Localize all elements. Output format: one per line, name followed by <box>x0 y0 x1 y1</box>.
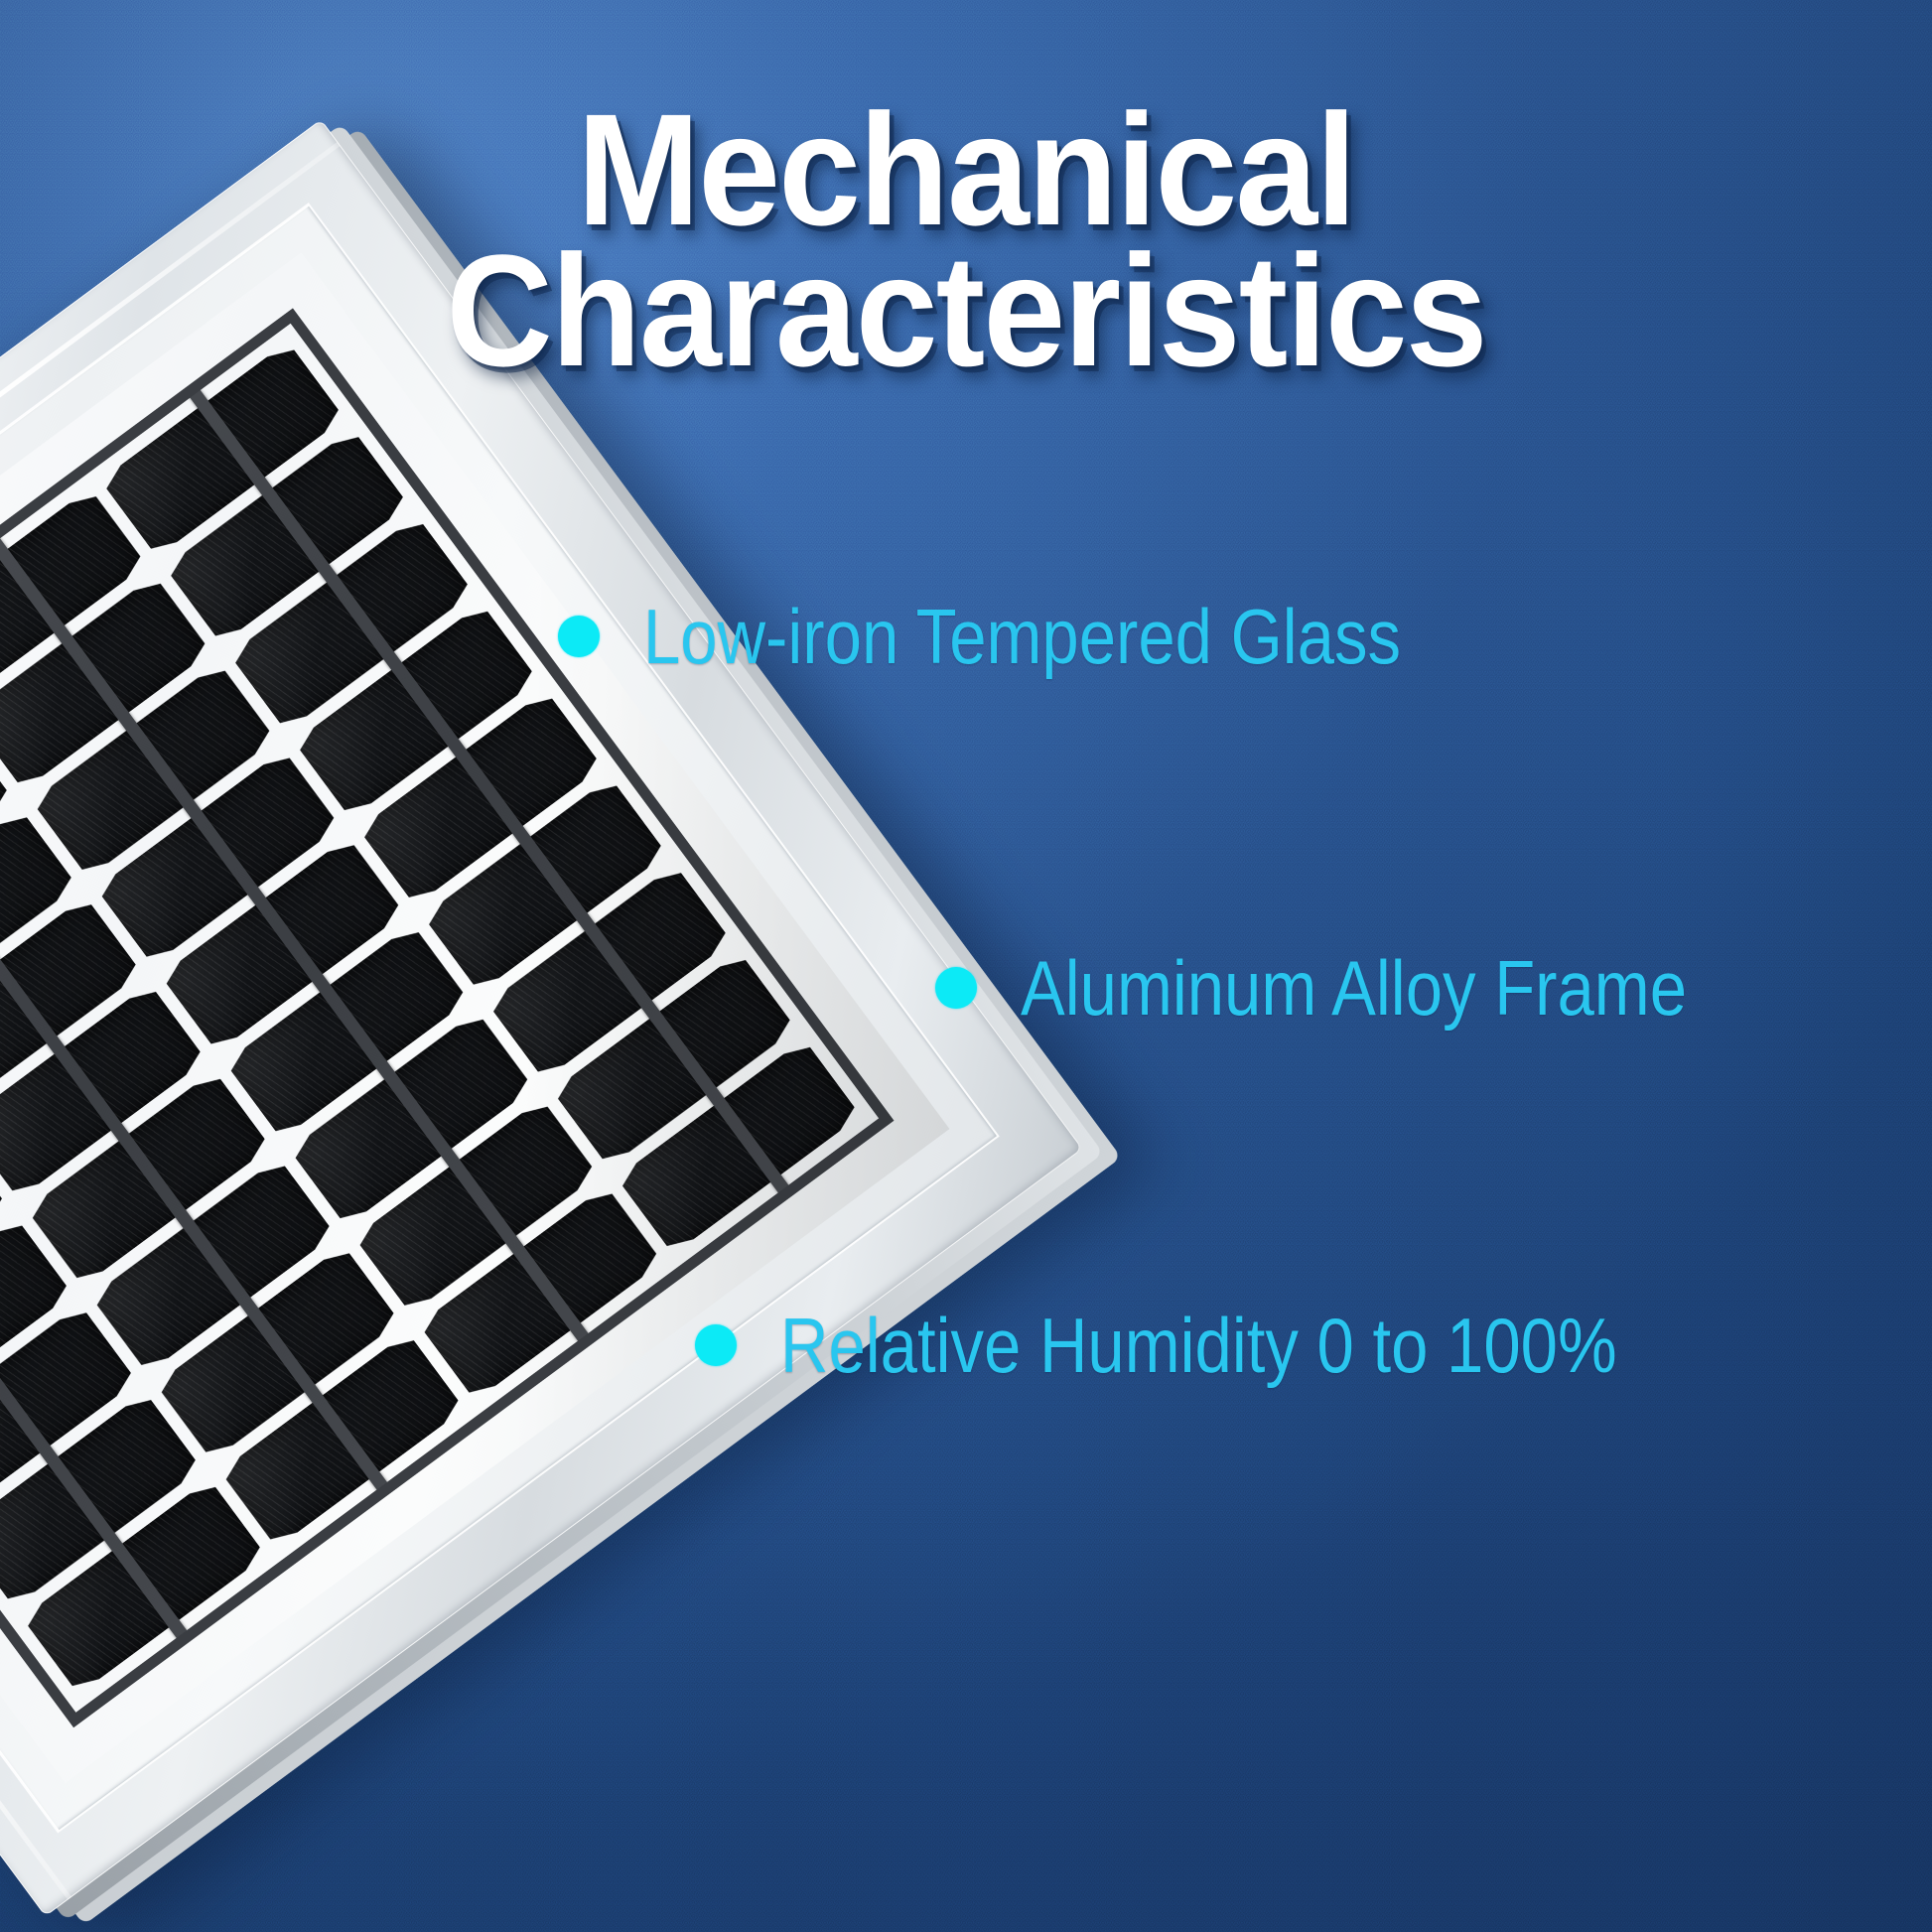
title-line-1: Mechanical <box>68 99 1864 240</box>
feature-item-relative-humidity: Relative Humidity 0 to 100% <box>695 1303 1753 1388</box>
bullet-dot-icon <box>935 967 977 1009</box>
page-title: Mechanical Characteristics <box>0 99 1932 381</box>
bullet-dot-icon <box>695 1324 737 1366</box>
slide-canvas: Mechanical Characteristics Low-iron Temp… <box>0 0 1932 1932</box>
feature-label: Low-iron Tempered Glass <box>643 594 1401 679</box>
feature-label: Aluminum Alloy Frame <box>1021 945 1687 1031</box>
title-line-2: Characteristics <box>68 240 1864 381</box>
bullet-dot-icon <box>558 616 600 657</box>
feature-label: Relative Humidity 0 to 100% <box>780 1303 1617 1388</box>
feature-item-low-iron-tempered-glass: Low-iron Tempered Glass <box>558 594 1524 679</box>
feature-item-aluminum-alloy-frame: Aluminum Alloy Frame <box>935 945 1795 1031</box>
